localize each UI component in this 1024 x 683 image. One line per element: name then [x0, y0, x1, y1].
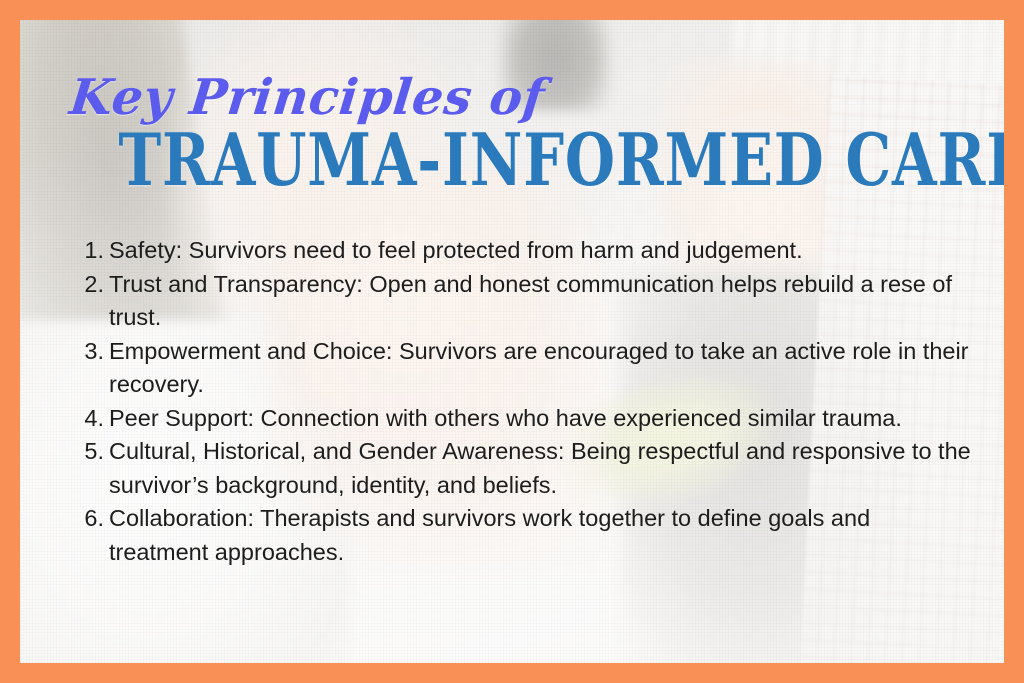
- principle-item: 2.Trust and Transparency: Open and hones…: [82, 268, 972, 335]
- principle-item: 3.Empowerment and Choice: Survivors are …: [82, 335, 972, 402]
- principle-number: 1.: [82, 234, 104, 268]
- principles-list: 1.Safety: Survivors need to feel protect…: [82, 234, 972, 569]
- principle-number: 3.: [82, 335, 104, 369]
- heading-main-title: TRAUMA-INFORMED CARE: [118, 124, 905, 196]
- principle-text: Peer Support: Connection with others who…: [109, 402, 972, 436]
- principle-text: Empowerment and Choice: Survivors are en…: [109, 335, 972, 402]
- principle-item: 1.Safety: Survivors need to feel protect…: [82, 234, 972, 268]
- principle-number: 2.: [82, 268, 104, 302]
- principle-text: Collaboration: Therapists and survivors …: [109, 502, 972, 569]
- principle-text: Safety: Survivors need to feel protected…: [109, 234, 972, 268]
- principle-item: 4.Peer Support: Connection with others w…: [82, 402, 972, 436]
- principle-item: 5.Cultural, Historical, and Gender Aware…: [82, 435, 972, 502]
- poster-frame: Key Principles of TRAUMA-INFORMED CARE 1…: [0, 0, 1024, 683]
- principle-number: 5.: [82, 435, 104, 469]
- principle-number: 4.: [82, 402, 104, 436]
- principle-text: Trust and Transparency: Open and honest …: [109, 268, 972, 335]
- principle-number: 6.: [82, 502, 104, 536]
- poster-canvas: Key Principles of TRAUMA-INFORMED CARE 1…: [20, 20, 1004, 663]
- principle-text: Cultural, Historical, and Gender Awarene…: [109, 435, 972, 502]
- principle-item: 6.Collaboration: Therapists and survivor…: [82, 502, 972, 569]
